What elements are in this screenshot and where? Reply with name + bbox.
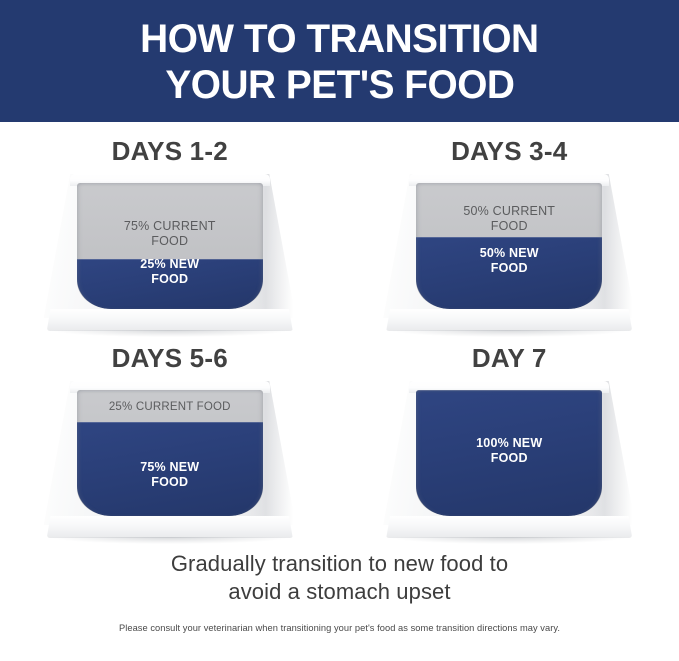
food-bowl-days-5-6: 25% CURRENT FOOD 75% NEW FOOD bbox=[44, 381, 296, 544]
new-food-label: 100% NEW FOOD bbox=[416, 436, 602, 466]
bowl-cavity: 75% CURRENT FOOD 25% NEW FOOD bbox=[77, 183, 263, 309]
step-label-days-1-2: DAYS 1-2 bbox=[112, 136, 228, 166]
food-bowl-day-7: 100% NEW FOOD bbox=[383, 381, 635, 544]
bowl-base bbox=[386, 516, 632, 538]
bowl-base bbox=[47, 309, 293, 331]
new-food-label: 25% NEW FOOD bbox=[77, 257, 263, 287]
step-label-day-7: DAY 7 bbox=[472, 343, 547, 373]
step-card-days-1-2: DAYS 1-2 75% CURRENT FOOD 25% NEW FOOD bbox=[0, 136, 340, 337]
bowl-drop-shadow bbox=[52, 537, 288, 544]
bowl-drop-shadow bbox=[391, 330, 627, 337]
transition-steps-grid: DAYS 1-2 75% CURRENT FOOD 25% NEW FOOD D… bbox=[0, 122, 679, 544]
bowl-drop-shadow bbox=[391, 537, 627, 544]
step-label-days-3-4: DAYS 3-4 bbox=[451, 136, 567, 166]
step-label-days-5-6: DAYS 5-6 bbox=[112, 343, 228, 373]
step-card-days-3-4: DAYS 3-4 50% CURRENT FOOD 50% NEW FOOD bbox=[340, 136, 679, 337]
bowl-drop-shadow bbox=[52, 330, 288, 337]
step-card-day-7: DAY 7 100% NEW FOOD bbox=[340, 343, 679, 544]
footer: Gradually transition to new food to avoi… bbox=[0, 544, 679, 634]
bowl-base bbox=[386, 309, 632, 331]
page-title-line-2: YOUR PET'S FOOD bbox=[165, 62, 514, 108]
new-food-label: 75% NEW FOOD bbox=[77, 460, 263, 490]
new-food-label: 50% NEW FOOD bbox=[416, 246, 602, 276]
bowl-cavity: 50% CURRENT FOOD 50% NEW FOOD bbox=[416, 183, 602, 309]
bowl-base bbox=[47, 516, 293, 538]
footer-disclaimer: Please consult your veterinarian when tr… bbox=[0, 622, 679, 634]
footer-tagline: Gradually transition to new food to avoi… bbox=[0, 550, 679, 606]
current-food-label: 25% CURRENT FOOD bbox=[77, 400, 263, 415]
food-bowl-days-1-2: 75% CURRENT FOOD 25% NEW FOOD bbox=[44, 174, 296, 337]
current-food-label: 75% CURRENT FOOD bbox=[77, 219, 263, 249]
bowl-cavity: 25% CURRENT FOOD 75% NEW FOOD bbox=[77, 390, 263, 516]
current-food-label: 50% CURRENT FOOD bbox=[416, 204, 602, 234]
page-title-line-1: HOW TO TRANSITION bbox=[140, 16, 538, 62]
food-bowl-days-3-4: 50% CURRENT FOOD 50% NEW FOOD bbox=[383, 174, 635, 337]
step-card-days-5-6: DAYS 5-6 25% CURRENT FOOD 75% NEW FOOD bbox=[0, 343, 340, 544]
bowl-cavity: 100% NEW FOOD bbox=[416, 390, 602, 516]
header-banner: HOW TO TRANSITION YOUR PET'S FOOD bbox=[0, 0, 679, 122]
